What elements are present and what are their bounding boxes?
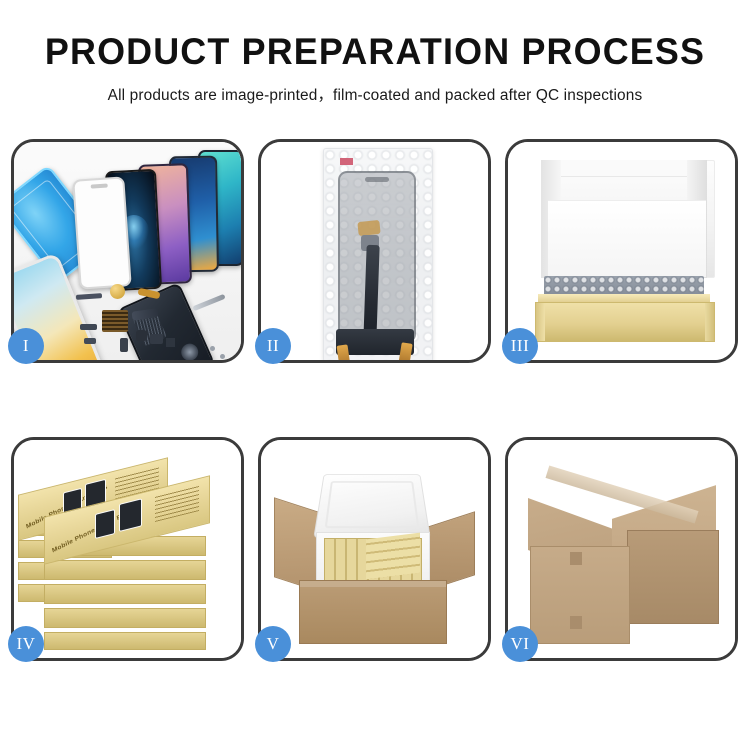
foam-insert-face: [548, 200, 706, 277]
spare-part-speaker: [150, 334, 163, 344]
spare-part-button: [120, 338, 128, 352]
spare-part-gold-disc: [110, 284, 125, 299]
screen-protector-glass: [72, 176, 132, 289]
process-step-panel-3[interactable]: III: [505, 139, 738, 363]
spare-part-connector-grid: [102, 310, 128, 332]
carton-hand-slot-top: [570, 552, 582, 565]
spare-part-small-1: [80, 324, 97, 330]
process-step-panel-6[interactable]: VI: [505, 437, 738, 661]
packed-retail-boxes-side: [366, 533, 420, 580]
bubble-wrap-bag: [323, 148, 433, 360]
process-step-panel-2[interactable]: II: [258, 139, 491, 363]
step-5-image: [261, 440, 488, 658]
gold-tab-right: [398, 342, 412, 360]
step-badge-3: III: [502, 328, 538, 364]
spare-part-screw-1: [210, 346, 215, 351]
step-badge-4: IV: [8, 626, 44, 662]
foam-box-lid: [313, 474, 430, 537]
step-3-image: [508, 142, 735, 360]
step-4-image: Mobile Phone Spare Parts Mobile Phone Sp…: [14, 440, 241, 658]
gold-contact-pad: [357, 220, 380, 236]
step-badge-2: II: [255, 328, 291, 364]
process-step-grid: I II: [11, 139, 739, 661]
carton-side-panel: [627, 530, 719, 624]
phone-notch: [365, 177, 389, 182]
step-6-image: [508, 440, 735, 658]
spare-part-screw-2: [220, 354, 225, 359]
carton-front-panel: [299, 580, 447, 644]
spare-part-small-2: [84, 338, 96, 344]
process-step-panel-1[interactable]: I: [11, 139, 244, 363]
process-step-panel-4[interactable]: Mobile Phone Spare Parts Mobile Phone Sp…: [11, 437, 244, 661]
step-1-image: [14, 142, 241, 360]
spare-part-chip: [166, 338, 175, 347]
step-badge-6: VI: [502, 626, 538, 662]
step-badge-5: V: [255, 626, 291, 662]
step-2-image: [261, 142, 488, 360]
gold-box-front: [535, 302, 715, 342]
spare-part-camera: [136, 330, 147, 341]
process-step-panel-5[interactable]: V: [258, 437, 491, 661]
page-subtitle: All products are image-printed，film-coat…: [0, 72, 750, 105]
step-badge-1: I: [8, 328, 44, 364]
red-label-tag: [340, 158, 353, 165]
carton-hand-slot-bottom: [570, 616, 582, 629]
foam-lid-top-edge: [553, 160, 701, 177]
page-header: PRODUCT PREPARATION PROCESS All products…: [0, 0, 750, 105]
page-title: PRODUCT PREPARATION PROCESS: [11, 0, 739, 72]
